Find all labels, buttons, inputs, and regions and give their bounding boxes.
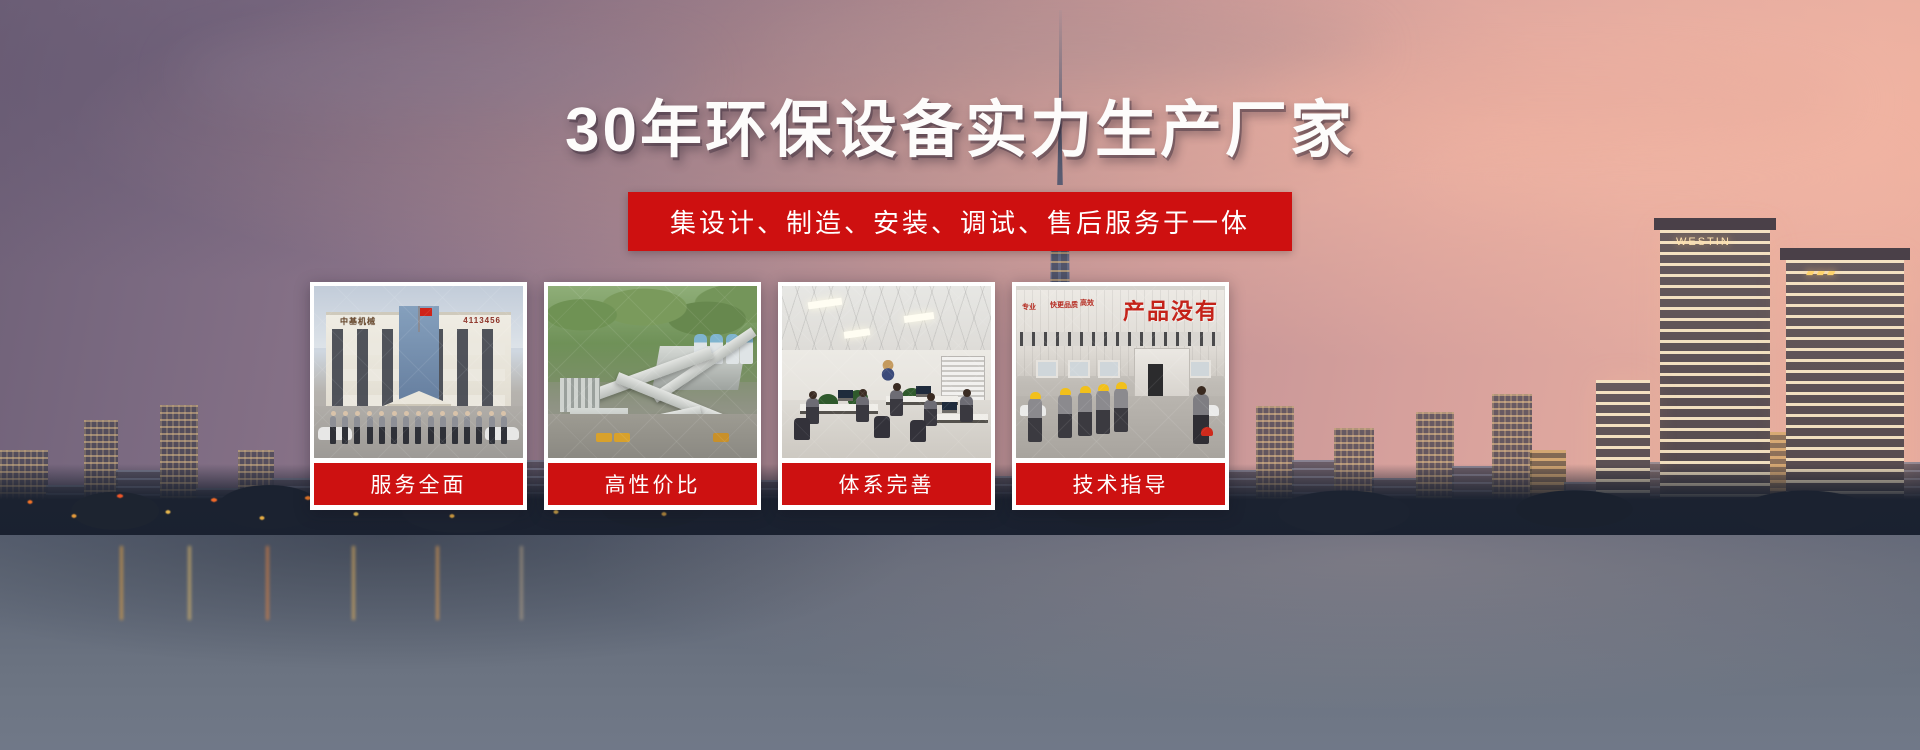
subtitle-banner: 集设计、制造、安装、调试、售后服务于一体 <box>628 192 1292 251</box>
water-reflection <box>188 546 191 620</box>
card-label: 技术指导 <box>1016 463 1225 505</box>
factory-slogan-1: 专业 <box>1022 304 1036 312</box>
feature-card[interactable]: 产品没有 专业 快更品质 高效 技术指导 <box>1012 282 1229 510</box>
card-photo-office-building: 中基机械 4113456 <box>314 286 523 458</box>
card-label: 服务全面 <box>314 463 523 505</box>
card-label: 体系完善 <box>782 463 991 505</box>
feature-card-list: 中基机械 4113456 服务全面 <box>310 282 1229 510</box>
card-label: 高性价比 <box>548 463 757 505</box>
subtitle-banner-wrap: 集设计、制造、安装、调试、售后服务于一体 <box>0 192 1920 251</box>
card-photo-industrial-plant <box>548 286 757 458</box>
building-sign-text: 中基机械 <box>340 316 376 327</box>
building-phone-text: 4113456 <box>463 316 501 325</box>
landmark-spire <box>1059 10 1062 110</box>
water-reflection <box>520 546 523 620</box>
factory-banner-text: 产品没有 <box>1123 294 1219 326</box>
card-photo-factory-workers: 产品没有 专业 快更品质 高效 <box>1016 286 1225 458</box>
feature-card[interactable]: 高性价比 <box>544 282 761 510</box>
page-title: 30年环保设备实力生产厂家 <box>0 100 1920 162</box>
factory-slogan-3: 高效 <box>1080 300 1094 308</box>
river <box>0 535 1920 750</box>
feature-card[interactable]: 中基机械 4113456 服务全面 <box>310 282 527 510</box>
water-reflection <box>352 546 355 620</box>
hero-banner: WESTIN ▰▰▰ 30年环保设备实力生产厂家 集设计、制造、安装、调试、售后… <box>0 0 1920 750</box>
water-reflection <box>120 546 123 620</box>
card-photo-office-interior <box>782 286 991 458</box>
water-reflection <box>266 546 269 620</box>
feature-card[interactable]: 体系完善 <box>778 282 995 510</box>
water-reflection <box>436 546 439 620</box>
factory-slogan-2: 快更品质 <box>1050 302 1078 310</box>
river-sheen <box>0 535 1920 750</box>
